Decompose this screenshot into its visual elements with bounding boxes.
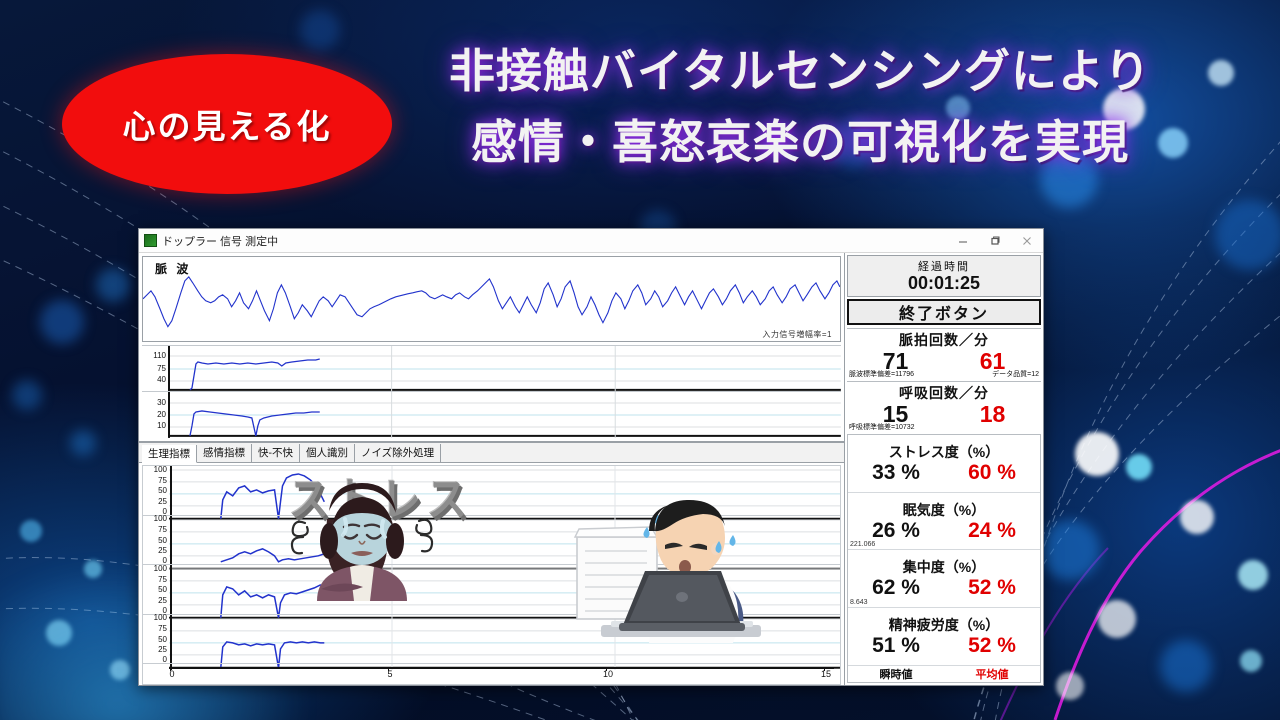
pulse-wave-label: 脈 波	[155, 260, 191, 277]
legend-average-label: 平均値	[976, 666, 1009, 682]
chart-drowsiness-trace	[169, 516, 840, 572]
x-axis-line	[169, 667, 834, 669]
hr-ytick-1: 75	[157, 365, 166, 373]
tab-pleasant-unpleasant[interactable]: 快-不快	[252, 444, 300, 462]
window-controls[interactable]	[947, 229, 1043, 253]
legend-instant-label: 瞬時値	[880, 666, 913, 682]
metric-stress-instant: 33 %	[872, 461, 920, 485]
metric-concentration: 集中度（%） 62 % 52 % 8.643	[848, 550, 1040, 608]
chart-mental-fatigue-trace	[169, 615, 840, 671]
fatigue-ytick-0: 0	[163, 656, 167, 664]
pulse-wave-trace	[143, 257, 840, 341]
hr-ytick-2: 40	[157, 376, 166, 384]
waveform-section: 脈 波 入力信号増幅率=1 110 75 40	[139, 253, 844, 443]
drowsiness-ytick-100: 100	[154, 515, 167, 523]
concentration-ytick-100: 100	[154, 565, 167, 573]
headline-line-2: 感情・喜怒哀楽の可視化を実現	[420, 107, 1180, 178]
drowsiness-ytick-75: 75	[158, 526, 167, 534]
chart-mental-fatigue-y-axis: 100 75 50 25 0	[143, 615, 169, 664]
stress-ytick-25: 25	[158, 498, 167, 506]
x-tick-0: 0	[169, 669, 174, 679]
end-button[interactable]: 終了ボタン	[847, 299, 1041, 325]
metric-mental-fatigue: 精神疲労度（%） 51 % 52 %	[848, 608, 1040, 666]
indicator-tabs[interactable]: 生理指標 感情指標 快-不快 個人識別 ノイズ除外処理	[139, 443, 844, 463]
concentration-ytick-75: 75	[158, 576, 167, 584]
br-ytick-2: 10	[157, 422, 166, 430]
slide-headline: 非接触バイタルセンシングにより 感情・喜怒哀楽の可視化を実現	[420, 36, 1180, 179]
metric-drowsiness: 眠気度（%） 26 % 24 % 221.066	[848, 493, 1040, 551]
br-ytick-1: 20	[157, 411, 166, 419]
fatigue-ytick-25: 25	[158, 646, 167, 654]
stress-ytick-100: 100	[154, 466, 167, 474]
chart-drowsiness: 100 75 50 25 0	[142, 515, 841, 565]
physiological-indicator-charts: ストレス	[139, 463, 844, 685]
elapsed-time-display: 経過時間 00:01:25	[847, 255, 1041, 297]
respiration-rate-readout: 呼吸回数／分 15 18 呼吸標準偏差=10732	[847, 381, 1041, 432]
tab-emotion-indicators[interactable]: 感情指標	[197, 444, 252, 462]
heart-rate-trace	[168, 346, 841, 392]
readout-panel: 経過時間 00:01:25 終了ボタン 脈拍回数／分 71 61 脈波標準偏差=…	[845, 253, 1043, 685]
elapsed-time-value: 00:01:25	[848, 274, 1040, 293]
badge-label: 心の見える化	[122, 100, 331, 148]
gain-note: 入力信号増幅率=1	[762, 329, 832, 340]
drowsiness-ytick-50: 50	[158, 537, 167, 545]
respiration-rate-title: 呼吸回数／分	[847, 383, 1041, 403]
chart-stress-trace	[169, 466, 840, 522]
window-title: ドップラー 信号 測定中	[162, 233, 278, 249]
metric-mental-fatigue-average: 52 %	[968, 634, 1016, 658]
chart-mental-fatigue: 100 75 50 25 0	[142, 614, 841, 664]
heart-rate-trend-chart: 110 75 40	[142, 345, 841, 391]
respiration-y-axis: 30 20 10	[142, 392, 168, 437]
fatigue-ytick-100: 100	[154, 614, 167, 622]
metric-mental-fatigue-instant: 51 %	[872, 634, 920, 658]
tab-noise-exclusion[interactable]: ノイズ除外処理	[355, 444, 441, 462]
elapsed-time-label: 経過時間	[848, 258, 1040, 274]
chart-concentration-trace	[169, 565, 840, 621]
maximize-icon[interactable]	[979, 229, 1011, 253]
respiration-sd-note: 呼吸標準偏差=10732	[849, 422, 915, 432]
concentration-ytick-50: 50	[158, 586, 167, 594]
window-titlebar[interactable]: ドップラー 信号 測定中	[139, 229, 1043, 253]
stress-ytick-50: 50	[158, 487, 167, 495]
respiration-rate-average: 18	[980, 401, 1006, 428]
x-tick-5: 5	[387, 669, 392, 679]
metric-stress-average: 60 %	[968, 461, 1016, 485]
metric-concentration-instant: 62 %	[872, 576, 920, 600]
metric-concentration-title: 集中度（%）	[848, 557, 1040, 577]
metric-stress-title: ストレス度（%）	[848, 442, 1040, 462]
pulse-rate-title: 脈拍回数／分	[847, 330, 1041, 350]
heart-rate-y-axis: 110 75 40	[142, 346, 168, 391]
concentration-ytick-25: 25	[158, 597, 167, 605]
metric-drowsiness-average: 24 %	[968, 519, 1016, 543]
chart-stress-y-axis: 100 75 50 25 0	[143, 466, 169, 515]
psychological-metrics: ストレス度（%） 33 % 60 % 眠気度（%） 26 % 24 % 221.…	[847, 434, 1041, 683]
fatigue-ytick-75: 75	[158, 625, 167, 633]
shared-x-axis: 0 5 10 15	[142, 663, 841, 685]
pulse-sd-note: 脈波標準偏差=11796	[849, 369, 914, 379]
app-icon	[144, 234, 157, 247]
chart-concentration: 100 75 50 25 0	[142, 564, 841, 614]
stress-ytick-75: 75	[158, 477, 167, 485]
metric-mental-fatigue-title: 精神疲労度（%）	[848, 615, 1040, 635]
minimize-icon[interactable]	[947, 229, 979, 253]
chart-concentration-y-axis: 100 75 50 25 0	[143, 565, 169, 614]
hr-ytick-0: 110	[153, 352, 166, 360]
highlight-badge: 心の見える化	[62, 54, 392, 194]
chart-stress: 100 75 50 25 0	[142, 465, 841, 515]
metric-concentration-sub: 8.643	[850, 599, 868, 606]
x-tick-15: 15	[821, 669, 831, 679]
stress-word-illustration: ストレス	[289, 463, 473, 530]
br-ytick-0: 30	[157, 399, 166, 407]
chart-drowsiness-y-axis: 100 75 50 25 0	[143, 516, 169, 565]
pulse-rate-readout: 脈拍回数／分 71 61 脈波標準偏差=11796 データ品質=12	[847, 328, 1041, 379]
fatigue-ytick-50: 50	[158, 636, 167, 644]
drowsiness-ytick-25: 25	[158, 547, 167, 555]
doppler-measurement-window[interactable]: ドップラー 信号 測定中	[138, 228, 1044, 686]
headline-line-1: 非接触バイタルセンシングにより	[420, 36, 1180, 107]
metrics-legend: 瞬時値 平均値	[848, 666, 1040, 682]
pulse-wave-chart: 脈 波 入力信号増幅率=1	[142, 256, 841, 342]
respiration-rate-trend-chart: 30 20 10	[142, 391, 841, 437]
metric-drowsiness-sub: 221.066	[850, 541, 875, 548]
tab-physiological-indicators[interactable]: 生理指標	[142, 445, 197, 463]
metric-stress: ストレス度（%） 33 % 60 %	[848, 435, 1040, 493]
respiration-trace	[168, 392, 841, 438]
metric-concentration-average: 52 %	[968, 576, 1016, 600]
tab-person-identification[interactable]: 個人識別	[300, 444, 355, 462]
data-quality-note: データ品質=12	[992, 369, 1039, 379]
x-tick-10: 10	[603, 669, 613, 679]
metric-drowsiness-title: 眠気度（%）	[848, 500, 1040, 520]
metric-drowsiness-instant: 26 %	[872, 519, 920, 543]
close-icon[interactable]	[1011, 229, 1043, 253]
